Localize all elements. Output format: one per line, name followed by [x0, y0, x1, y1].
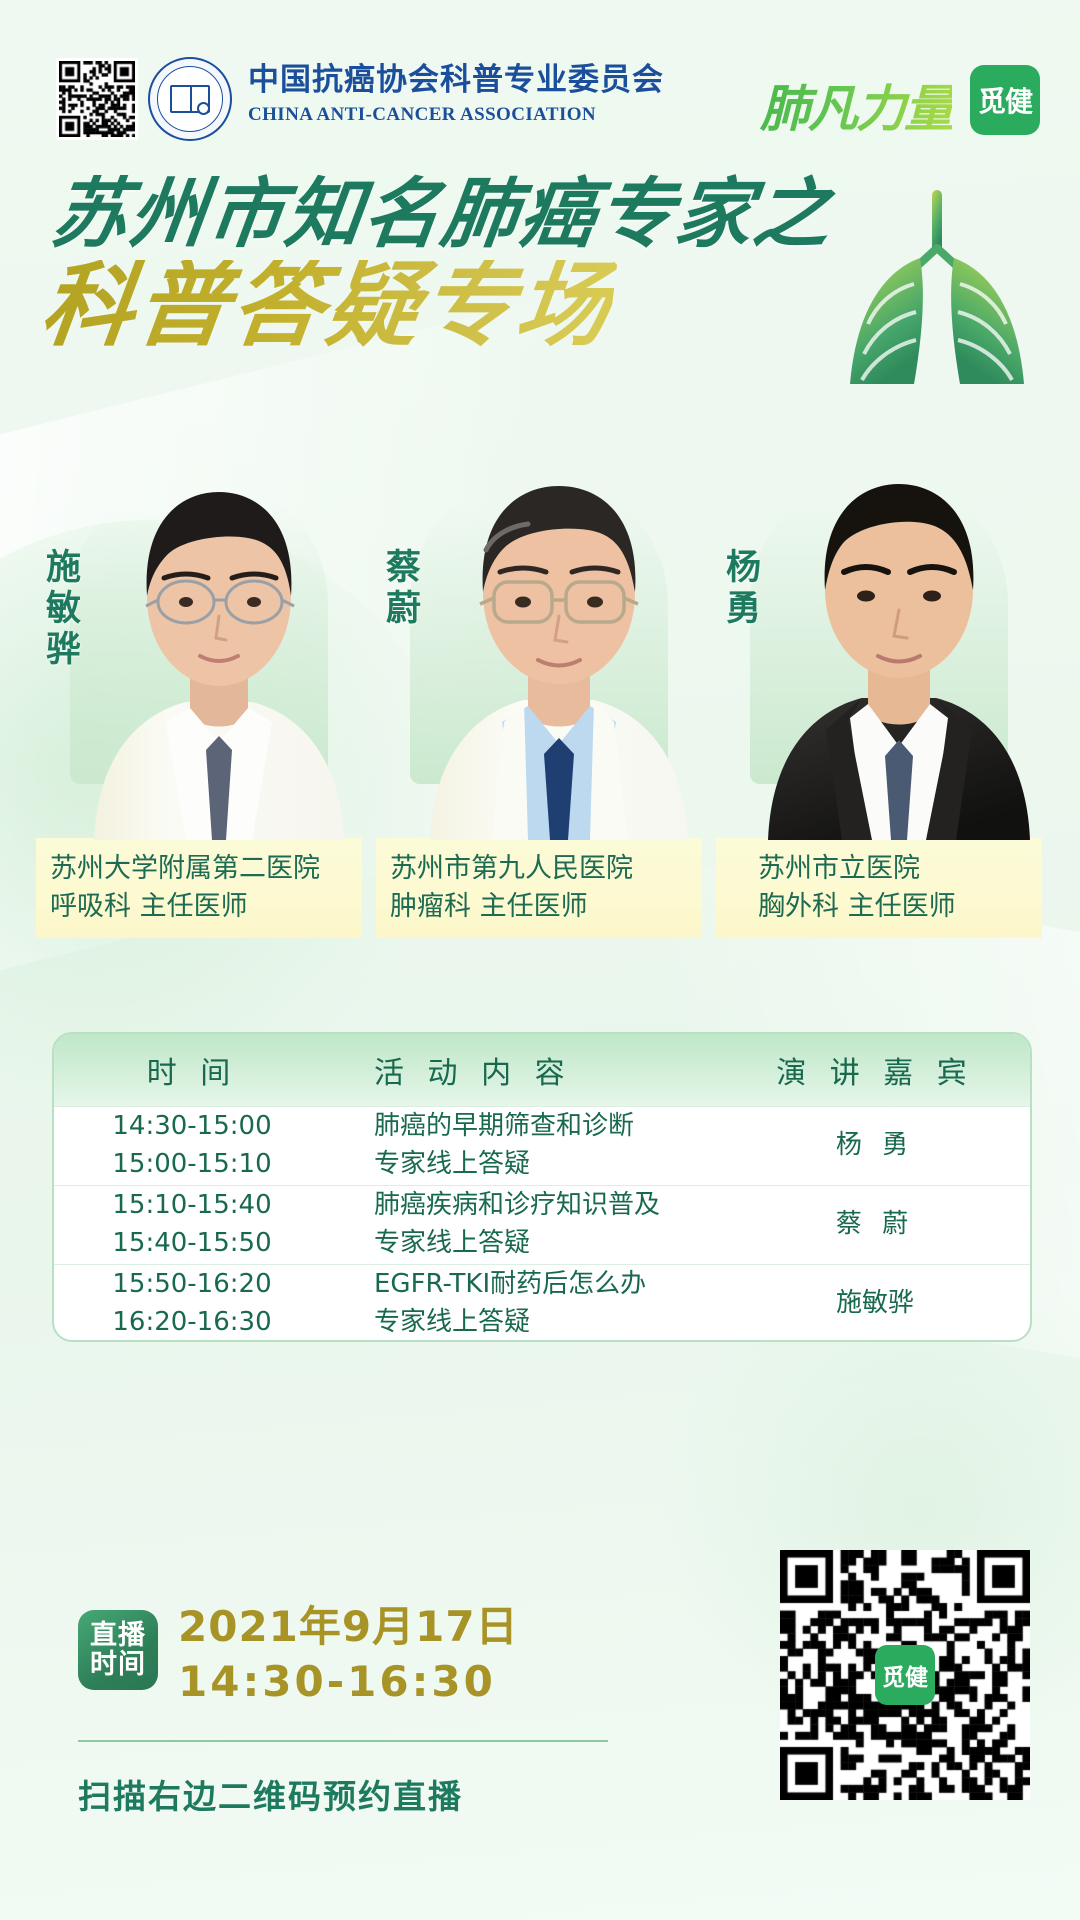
row-time-3: 15:50-16:20 16:20-16:30 [54, 1266, 326, 1341]
doctor-photo-row: 施敏骅 [36, 430, 1044, 840]
doctor-department-2: 肿瘤科 主任医师 [390, 888, 702, 926]
footer-qr-code-icon[interactable]: 觅健 [780, 1550, 1030, 1800]
doctor-caption-row: 苏州大学附属第二医院 呼吸科 主任医师 苏州市第九人民医院 肿瘤科 主任医师 苏… [36, 838, 1044, 938]
doctor-name-2: 蔡蔚 [382, 548, 417, 630]
doctor-hospital-3: 苏州市立医院 [758, 850, 1042, 888]
doctor-department-1: 呼吸科 主任医师 [50, 888, 362, 926]
content-qa: 专家线上答疑 [374, 1146, 746, 1184]
doctor-name-1: 施敏骅 [42, 548, 77, 671]
association-name-cn: 中国抗癌协会科普专业委员会 [248, 61, 664, 100]
live-date: 2021年9月17日 [178, 1600, 519, 1655]
schedule-table: 时 间 活 动 内 容 演 讲 嘉 宾 14:30-15:00 15:00-15… [52, 1032, 1032, 1342]
qr-center-logo: 觅健 [875, 1645, 935, 1705]
row-time-1: 14:30-15:00 15:00-15:10 [54, 1108, 326, 1183]
doctor-card-3: 杨勇 [716, 430, 1042, 840]
footer-divider [78, 1740, 608, 1742]
doctor-caption-3: 苏州市立医院 胸外科 主任医师 [716, 838, 1042, 938]
doctor-name-3: 杨勇 [722, 548, 757, 630]
column-header-time: 时 间 [54, 1048, 326, 1092]
header-qr-code-icon[interactable] [56, 58, 138, 140]
live-time-badge: 直播 时间 [78, 1610, 158, 1690]
row-guest-3: 施敏骅 [746, 1285, 1030, 1323]
doctor-caption-2: 苏州市第九人民医院 肿瘤科 主任医师 [376, 838, 702, 938]
content-qa: 专家线上答疑 [374, 1304, 746, 1342]
time-slot-b: 15:40-15:50 [58, 1225, 326, 1263]
row-content-3: EGFR-TKI耐药后怎么办 专家线上答疑 [326, 1266, 746, 1341]
poster-header: 中国抗癌协会科普专业委员会 CHINA ANTI-CANCER ASSOCIAT… [0, 55, 1080, 150]
time-slot-a: 14:30-15:00 [58, 1108, 326, 1146]
association-name-en: CHINA ANTI-CANCER ASSOCIATION [248, 104, 664, 126]
table-row: 15:10-15:40 15:40-15:50 肺癌疾病和诊疗知识普及 专家线上… [54, 1185, 1030, 1264]
doctor-department-3: 胸外科 主任医师 [758, 888, 1042, 926]
lungs-icon [822, 188, 1052, 388]
association-name-block: 中国抗癌协会科普专业委员会 CHINA ANTI-CANCER ASSOCIAT… [248, 61, 664, 126]
row-time-2: 15:10-15:40 15:40-15:50 [54, 1187, 326, 1262]
page-title-line-2: 科普答疑专场 [36, 260, 617, 352]
time-slot-b: 15:00-15:10 [58, 1146, 326, 1184]
live-datetime-block: 2021年9月17日 14:30-16:30 [178, 1600, 519, 1709]
page-title-line-1: 苏州市知名肺癌专家之 [47, 176, 836, 252]
association-seal-icon [148, 57, 232, 141]
table-row: 14:30-15:00 15:00-15:10 肺癌的早期筛查和诊断 专家线上答… [54, 1106, 1030, 1185]
partner-badge: 觅健 [970, 65, 1040, 135]
row-guest-1: 杨 勇 [746, 1127, 1030, 1165]
doctor-hospital-1: 苏州大学附属第二医院 [50, 850, 362, 888]
content-topic: 肺癌疾病和诊疗知识普及 [374, 1187, 746, 1225]
time-slot-a: 15:50-16:20 [58, 1266, 326, 1304]
doctor-portrait-icon-1 [76, 430, 362, 840]
poster-page: 中国抗癌协会科普专业委员会 CHINA ANTI-CANCER ASSOCIAT… [0, 0, 1080, 1920]
poster-footer: 直播 时间 2021年9月17日 14:30-16:30 扫描右边二维码预约直播… [0, 1560, 1080, 1920]
schedule-table-header: 时 间 活 动 内 容 演 讲 嘉 宾 [54, 1034, 1030, 1106]
column-header-content: 活 动 内 容 [326, 1048, 746, 1092]
doctor-portrait-icon-3 [756, 430, 1042, 840]
time-slot-a: 15:10-15:40 [58, 1187, 326, 1225]
live-badge-line-1: 直播 [90, 1621, 146, 1650]
live-badge-line-2: 时间 [90, 1650, 146, 1679]
doctor-hospital-2: 苏州市第九人民医院 [390, 850, 702, 888]
time-slot-b: 16:20-16:30 [58, 1304, 326, 1342]
content-qa: 专家线上答疑 [374, 1225, 746, 1263]
doctor-card-2: 蔡蔚 [376, 430, 702, 840]
doctor-card-1: 施敏骅 [36, 430, 362, 840]
doctor-caption-1: 苏州大学附属第二医院 呼吸科 主任医师 [36, 838, 362, 938]
content-topic: EGFR-TKI耐药后怎么办 [374, 1266, 746, 1304]
scan-instruction: 扫描右边二维码预约直播 [78, 1770, 463, 1818]
table-row: 15:50-16:20 16:20-16:30 EGFR-TKI耐药后怎么办 专… [54, 1264, 1030, 1342]
row-content-2: 肺癌疾病和诊疗知识普及 专家线上答疑 [326, 1187, 746, 1262]
row-content-1: 肺癌的早期筛查和诊断 专家线上答疑 [326, 1108, 746, 1183]
content-topic: 肺癌的早期筛查和诊断 [374, 1108, 746, 1146]
row-guest-2: 蔡 蔚 [746, 1206, 1030, 1244]
doctor-portrait-icon-2 [416, 430, 702, 840]
column-header-guest: 演 讲 嘉 宾 [746, 1048, 1030, 1092]
live-time-range: 14:30-16:30 [178, 1655, 519, 1710]
brand-logo: 肺凡力量 [760, 69, 952, 141]
